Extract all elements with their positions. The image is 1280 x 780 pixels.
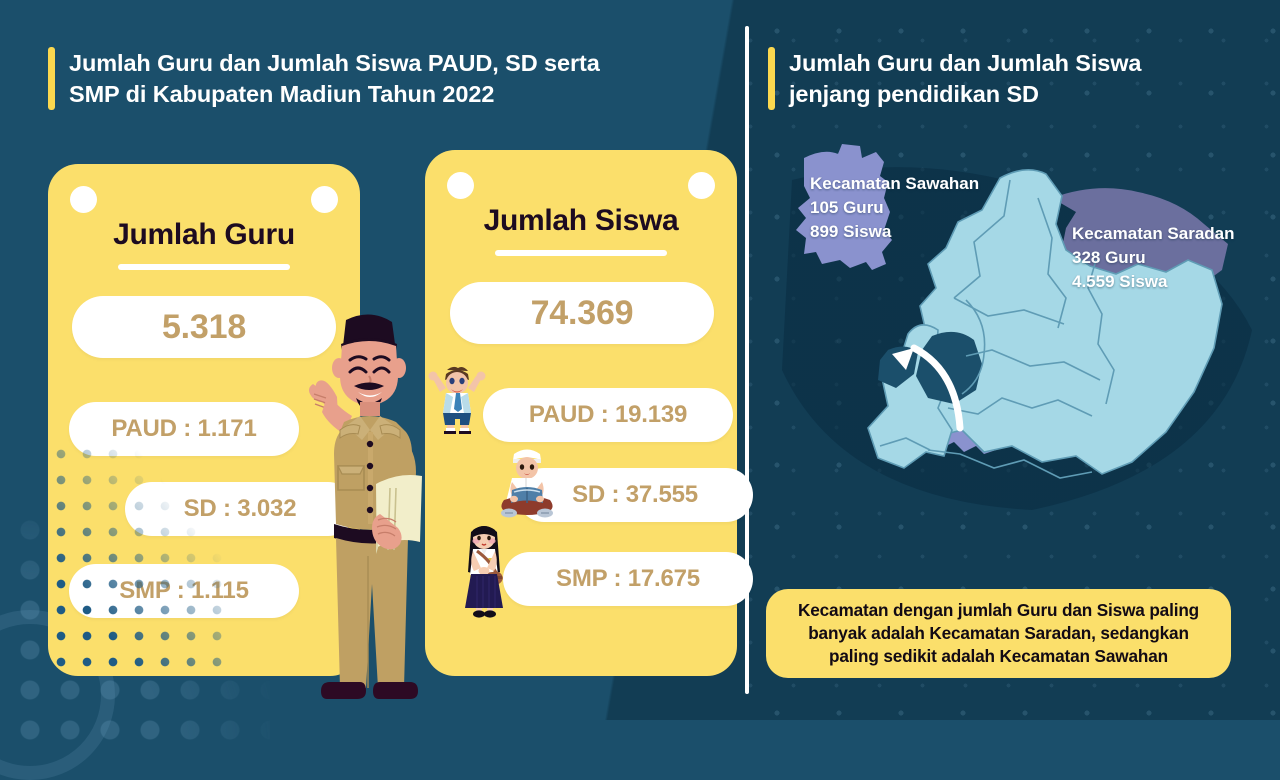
stat-row-siswa-smp: SMP : 17.675 <box>503 552 753 606</box>
summary-note-text: Kecamatan dengan jumlah Guru dan Siswa p… <box>798 599 1199 669</box>
card-heading-guru: Jumlah Guru <box>48 218 360 252</box>
summary-note-card: Kecamatan dengan jumlah Guru dan Siswa p… <box>766 589 1231 678</box>
student-paud-illustration <box>428 362 486 434</box>
left-panel-title-text: Jumlah Guru dan Jumlah Siswa PAUD, SD se… <box>69 47 600 110</box>
student-sd-illustration <box>492 442 562 520</box>
right-panel-title: Jumlah Guru dan Jumlah Siswa jenjang pen… <box>768 47 1238 110</box>
card-underline <box>118 264 290 270</box>
map-label-sawahan: Kecamatan Sawahan 105 Guru 899 Siswa <box>810 172 979 244</box>
card-hole-right-icon <box>688 172 715 199</box>
student-smp-illustration <box>455 518 513 618</box>
title-accent-bar <box>768 47 775 110</box>
card-hole-left-icon <box>70 186 97 213</box>
card-hole-right-icon <box>311 186 338 213</box>
teacher-illustration <box>268 298 473 718</box>
stat-total-siswa: 74.369 <box>450 282 714 344</box>
card-dot-texture <box>48 441 238 676</box>
map-label-saradan: Kecamatan Saradan 328 Guru 4.559 Siswa <box>1072 222 1235 294</box>
left-panel-title: Jumlah Guru dan Jumlah Siswa PAUD, SD se… <box>48 47 708 110</box>
right-panel-title-text: Jumlah Guru dan Jumlah Siswa jenjang pen… <box>789 47 1141 110</box>
card-underline <box>495 250 667 256</box>
stat-row-siswa-paud: PAUD : 19.139 <box>483 388 733 442</box>
title-accent-bar <box>48 47 55 110</box>
card-heading-siswa: Jumlah Siswa <box>425 204 737 238</box>
card-hole-left-icon <box>447 172 474 199</box>
